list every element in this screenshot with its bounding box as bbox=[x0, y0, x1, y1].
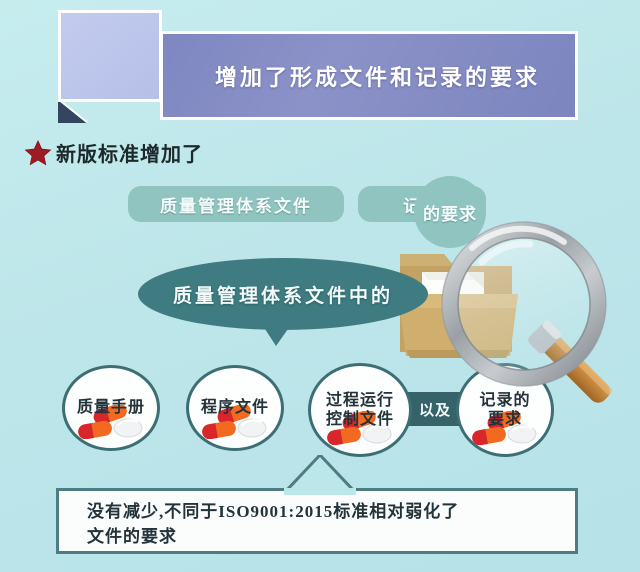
ellipse-label: 质量管理体系文件中的 bbox=[173, 281, 393, 308]
bubble-process-control-documents[interactable]: 过程运行 控制文件 bbox=[308, 363, 412, 457]
note-line-2: 文件的要求 bbox=[87, 525, 575, 550]
title-banner: 增加了形成文件和记录的要求 bbox=[160, 31, 578, 120]
note-pointer bbox=[284, 455, 356, 500]
bubble-label: 要求 bbox=[488, 410, 522, 429]
ellipse-qms-documents[interactable]: 质量管理体系文件中的 bbox=[138, 258, 428, 330]
decorative-fold-corner bbox=[58, 99, 88, 123]
page-title: 增加了形成文件和记录的要求 bbox=[163, 60, 540, 92]
subtitle-row: 新版标准增加了 bbox=[24, 138, 203, 167]
subtitle-label: 新版标准增加了 bbox=[56, 138, 203, 167]
bubble-label: 过程运行 bbox=[326, 391, 394, 410]
bubble-quality-manual[interactable]: 质量手册 bbox=[62, 365, 160, 451]
magnifying-glass-icon bbox=[438, 218, 640, 411]
bubble-label: 程序文件 bbox=[201, 398, 269, 417]
pill-qms-label: 质量管理体系文件 bbox=[160, 192, 312, 217]
bubble-label: 控制文件 bbox=[326, 410, 394, 429]
pill-qms-documents[interactable]: 质量管理体系文件 bbox=[128, 186, 344, 222]
slide-canvas: 增加了形成文件和记录的要求 新版标准增加了 质量管理体系文件 记录 的要求 bbox=[0, 0, 640, 572]
bubble-label: 质量手册 bbox=[77, 398, 145, 417]
bubble-procedure-documents[interactable]: 程序文件 bbox=[186, 365, 284, 451]
star-icon bbox=[24, 139, 52, 167]
note-line-1: 没有减少,不同于ISO9001:2015标准相对弱化了 bbox=[87, 500, 575, 525]
decorative-square bbox=[58, 10, 162, 102]
